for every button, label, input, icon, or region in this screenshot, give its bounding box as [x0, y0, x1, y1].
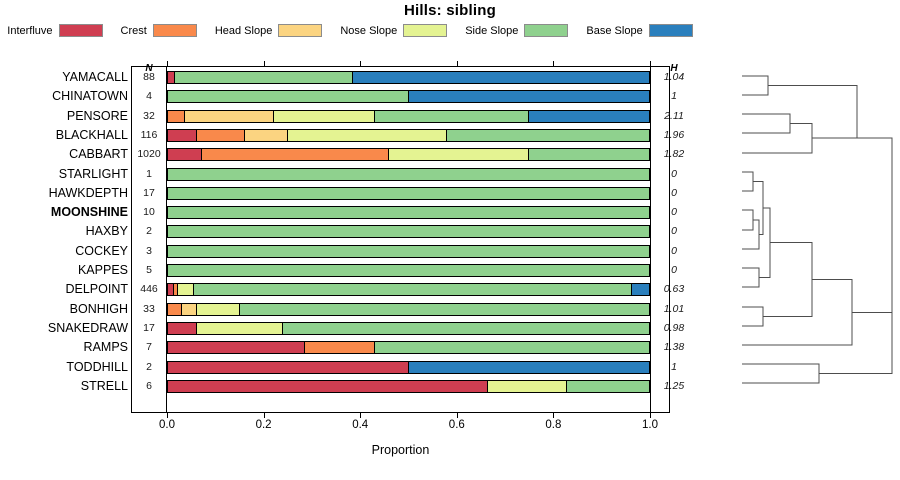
bar-segment-side-slope	[240, 304, 649, 315]
legend-item-nose-slope: Nose Slope	[340, 24, 447, 37]
bar-segment-side-slope	[168, 91, 409, 102]
h-value: 0	[652, 165, 696, 184]
bar-segment-side-slope	[375, 342, 649, 353]
n-value: 3	[133, 242, 165, 261]
legend-item-base-slope: Base Slope	[586, 24, 692, 37]
bar-segment-nose-slope	[178, 284, 195, 295]
bar-segment-side-slope	[194, 284, 632, 295]
h-value: 0.63	[652, 280, 696, 299]
bar-segment-side-slope	[168, 188, 649, 199]
axis-tick	[650, 413, 651, 418]
bar-segment-side-slope	[168, 246, 649, 257]
axis-tick-label: 0.0	[147, 419, 187, 431]
h-value: 0	[652, 203, 696, 222]
legend-swatch-icon	[649, 24, 693, 37]
bar-segment-interfluve	[168, 72, 175, 83]
h-value: 1	[652, 87, 696, 106]
n-value: 7	[133, 338, 165, 357]
bar-segment-crest	[197, 130, 245, 141]
bar-segment-side-slope	[168, 226, 649, 237]
axis-tick-top	[264, 61, 265, 66]
stacked-bar	[167, 283, 650, 296]
category-label: CABBART	[0, 145, 128, 164]
bar-segment-base-slope	[409, 362, 650, 373]
legend-label: Crest	[121, 25, 147, 37]
legend-label: Interfluve	[7, 25, 52, 37]
n-value: 6	[133, 377, 165, 396]
bar-segment-crest	[168, 111, 185, 122]
axis-tick-label: 1.0	[630, 419, 670, 431]
stacked-bar	[167, 206, 650, 219]
category-label: MOONSHINE	[0, 203, 128, 222]
category-label: COCKEY	[0, 242, 128, 261]
dendrogram	[700, 60, 900, 420]
n-value: 1020	[133, 145, 165, 164]
stacked-bar	[167, 264, 650, 277]
bar-segment-interfluve	[168, 381, 488, 392]
legend-item-interfluve: Interfluve	[7, 24, 102, 37]
n-value: 2	[133, 222, 165, 241]
h-value: 1.82	[652, 145, 696, 164]
axis-tick	[167, 413, 168, 418]
stacked-bar	[167, 110, 650, 123]
legend-label: Nose Slope	[340, 25, 397, 37]
n-value: 4	[133, 87, 165, 106]
bar-segment-head-slope	[245, 130, 288, 141]
axis-tick-top	[167, 61, 168, 66]
axis-tick-label: 0.8	[533, 419, 573, 431]
bar-segment-crest	[305, 342, 375, 353]
category-label: BONHIGH	[0, 300, 128, 319]
stacked-bar	[167, 90, 650, 103]
stacked-bar	[167, 129, 650, 142]
axis-tick	[457, 413, 458, 418]
n-value: 1	[133, 165, 165, 184]
bar-segment-crest	[202, 149, 390, 160]
h-value: 0.98	[652, 319, 696, 338]
h-value: 2.11	[652, 107, 696, 126]
category-label: STARLIGHT	[0, 165, 128, 184]
bar-segment-nose-slope	[389, 149, 528, 160]
n-value: 17	[133, 184, 165, 203]
chart-legend: InterfluveCrestHead SlopeNose SlopeSide …	[0, 24, 700, 37]
legend-item-side-slope: Side Slope	[465, 24, 568, 37]
n-value: 10	[133, 203, 165, 222]
n-value: 2	[133, 358, 165, 377]
h-value: 1	[652, 358, 696, 377]
stacked-bar	[167, 361, 650, 374]
bar-segment-nose-slope	[197, 323, 284, 334]
stacked-bar	[167, 322, 650, 335]
bar-segment-base-slope	[632, 284, 649, 295]
bar-segment-interfluve	[168, 342, 305, 353]
bar-segment-side-slope	[168, 207, 649, 218]
page-title: Hills: sibling	[0, 2, 900, 19]
axis-tick	[264, 413, 265, 418]
category-label: YAMACALL	[0, 68, 128, 87]
n-value: 17	[133, 319, 165, 338]
h-value: 1.04	[652, 68, 696, 87]
bar-segment-base-slope	[529, 111, 649, 122]
bar-segment-side-slope	[375, 111, 529, 122]
h-value: 0	[652, 261, 696, 280]
n-value: 33	[133, 300, 165, 319]
legend-label: Side Slope	[465, 25, 518, 37]
legend-label: Base Slope	[586, 25, 642, 37]
category-label: HAWKDEPTH	[0, 184, 128, 203]
h-value: 1.96	[652, 126, 696, 145]
axis-tick-top	[553, 61, 554, 66]
category-label: HAXBY	[0, 222, 128, 241]
stacked-bar	[167, 341, 650, 354]
n-value: 5	[133, 261, 165, 280]
axis-tick-label: 0.2	[244, 419, 284, 431]
bar-segment-base-slope	[409, 91, 650, 102]
axis-tick-top	[457, 61, 458, 66]
legend-swatch-icon	[153, 24, 197, 37]
x-axis-title: Proportion	[131, 443, 670, 457]
category-label: PENSORE	[0, 107, 128, 126]
category-label: CHINATOWN	[0, 87, 128, 106]
stacked-bar	[167, 71, 650, 84]
stacked-bar	[167, 380, 650, 393]
stacked-bar	[167, 225, 650, 238]
h-value: 1.38	[652, 338, 696, 357]
category-label: KAPPES	[0, 261, 128, 280]
bar-segment-side-slope	[447, 130, 649, 141]
bar-segment-side-slope	[168, 169, 649, 180]
bar-segment-nose-slope	[274, 111, 375, 122]
legend-label: Head Slope	[215, 25, 273, 37]
h-value: 0	[652, 222, 696, 241]
stacked-bar	[167, 148, 650, 161]
bar-segment-nose-slope	[488, 381, 567, 392]
bar-segment-side-slope	[168, 265, 649, 276]
legend-item-crest: Crest	[121, 24, 197, 37]
legend-swatch-icon	[524, 24, 568, 37]
category-label: RAMPS	[0, 338, 128, 357]
axis-tick-top	[650, 61, 651, 66]
bar-segment-head-slope	[182, 304, 196, 315]
bar-segment-side-slope	[567, 381, 649, 392]
h-value: 1.25	[652, 377, 696, 396]
h-value: 0	[652, 242, 696, 261]
n-value: 32	[133, 107, 165, 126]
axis-tick	[553, 413, 554, 418]
category-label: STRELL	[0, 377, 128, 396]
stacked-bar	[167, 245, 650, 258]
bar-segment-side-slope	[283, 323, 649, 334]
category-label: BLACKHALL	[0, 126, 128, 145]
axis-tick-label: 0.4	[340, 419, 380, 431]
bar-segment-crest	[168, 304, 182, 315]
category-label: TODDHILL	[0, 358, 128, 377]
bar-segment-head-slope	[185, 111, 274, 122]
bar-segment-interfluve	[168, 362, 409, 373]
bar-segment-interfluve	[168, 130, 197, 141]
legend-swatch-icon	[403, 24, 447, 37]
h-value: 0	[652, 184, 696, 203]
axis-tick-label: 0.6	[437, 419, 477, 431]
n-value: 116	[133, 126, 165, 145]
bar-segment-side-slope	[175, 72, 353, 83]
h-value: 1.01	[652, 300, 696, 319]
axis-tick	[360, 413, 361, 418]
n-value: 88	[133, 68, 165, 87]
bar-segment-nose-slope	[197, 304, 240, 315]
stacked-bar	[167, 303, 650, 316]
stacked-bar	[167, 187, 650, 200]
stacked-bar	[167, 168, 650, 181]
category-label: SNAKEDRAW	[0, 319, 128, 338]
legend-swatch-icon	[278, 24, 322, 37]
bar-segment-interfluve	[168, 323, 197, 334]
bar-segment-base-slope	[353, 72, 649, 83]
category-label: DELPOINT	[0, 280, 128, 299]
axis-tick-top	[360, 61, 361, 66]
n-value: 446	[133, 280, 165, 299]
bar-segment-interfluve	[168, 149, 202, 160]
bar-segment-nose-slope	[288, 130, 447, 141]
legend-swatch-icon	[59, 24, 103, 37]
bar-segment-side-slope	[529, 149, 649, 160]
legend-item-head-slope: Head Slope	[215, 24, 323, 37]
